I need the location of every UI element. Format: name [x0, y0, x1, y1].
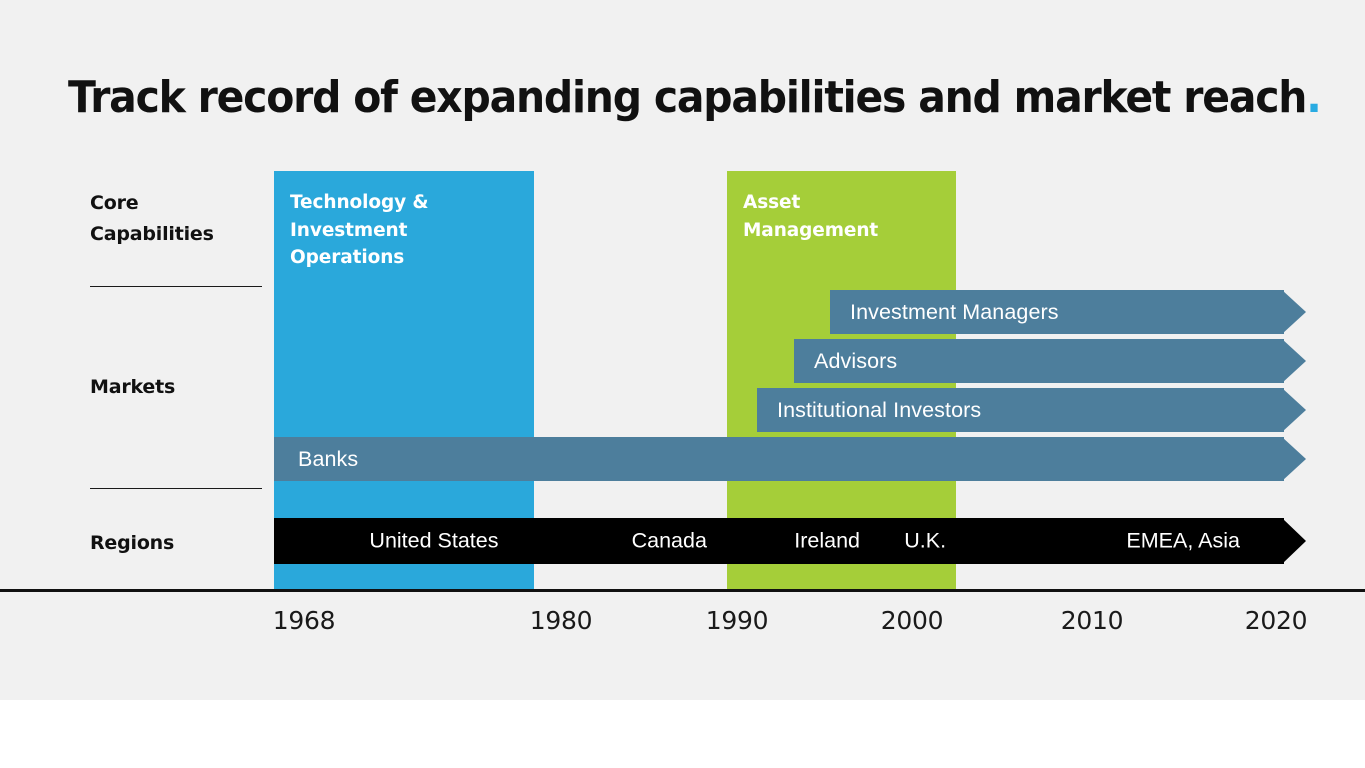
market-bar-investment-managers-label: Investment Managers	[850, 300, 1059, 325]
row-label-regions: Regions	[90, 528, 174, 559]
market-bar-institutional-investors: Institutional Investors	[757, 388, 1306, 432]
axis-year-2000: 2000	[881, 606, 943, 635]
arrow-head-icon	[1283, 339, 1306, 383]
region-label: EMEA, Asia	[1126, 529, 1240, 554]
axis-year-2010: 2010	[1061, 606, 1123, 635]
market-bar-institutional-investors-label: Institutional Investors	[777, 398, 981, 423]
era-block-asset-management-label: Asset Management	[743, 189, 878, 244]
arrow-head-icon	[1283, 290, 1306, 334]
arrow-head-icon	[1283, 437, 1306, 481]
axis-year-2020: 2020	[1245, 606, 1307, 635]
slide-canvas: Track record of expanding capabilities a…	[0, 0, 1365, 768]
region-label: Ireland	[794, 529, 860, 554]
era-block-technology-label: Technology & Investment Operations	[290, 189, 428, 272]
row-label-core-capabilities: Core Capabilities	[90, 188, 214, 250]
row-label-markets: Markets	[90, 372, 175, 403]
market-bar-banks: Banks	[274, 437, 1306, 481]
region-label: U.K.	[904, 529, 946, 554]
slide-footer: SEI INVESTOR DAY September 18, 2025 76	[0, 700, 1365, 768]
region-label: Canada	[632, 529, 707, 554]
timeline-chart: Core Capabilities Markets Regions Techno…	[0, 0, 1365, 700]
regions-label-group: United StatesCanadaIrelandU.K.EMEA, Asia	[274, 518, 1306, 564]
arrow-head-icon	[1283, 388, 1306, 432]
market-bar-advisors: Advisors	[794, 339, 1306, 383]
region-label: United States	[369, 529, 498, 554]
timeline-axis	[0, 589, 1365, 592]
axis-year-1980: 1980	[530, 606, 592, 635]
market-bar-banks-label: Banks	[298, 447, 358, 472]
row-divider-bottom	[90, 488, 262, 489]
regions-bar: United StatesCanadaIrelandU.K.EMEA, Asia	[274, 518, 1306, 564]
bar-body	[274, 437, 1284, 481]
market-bar-investment-managers: Investment Managers	[830, 290, 1306, 334]
axis-year-1968: 1968	[273, 606, 335, 635]
row-divider-top	[90, 286, 262, 287]
axis-year-1990: 1990	[706, 606, 768, 635]
market-bar-advisors-label: Advisors	[814, 349, 897, 374]
